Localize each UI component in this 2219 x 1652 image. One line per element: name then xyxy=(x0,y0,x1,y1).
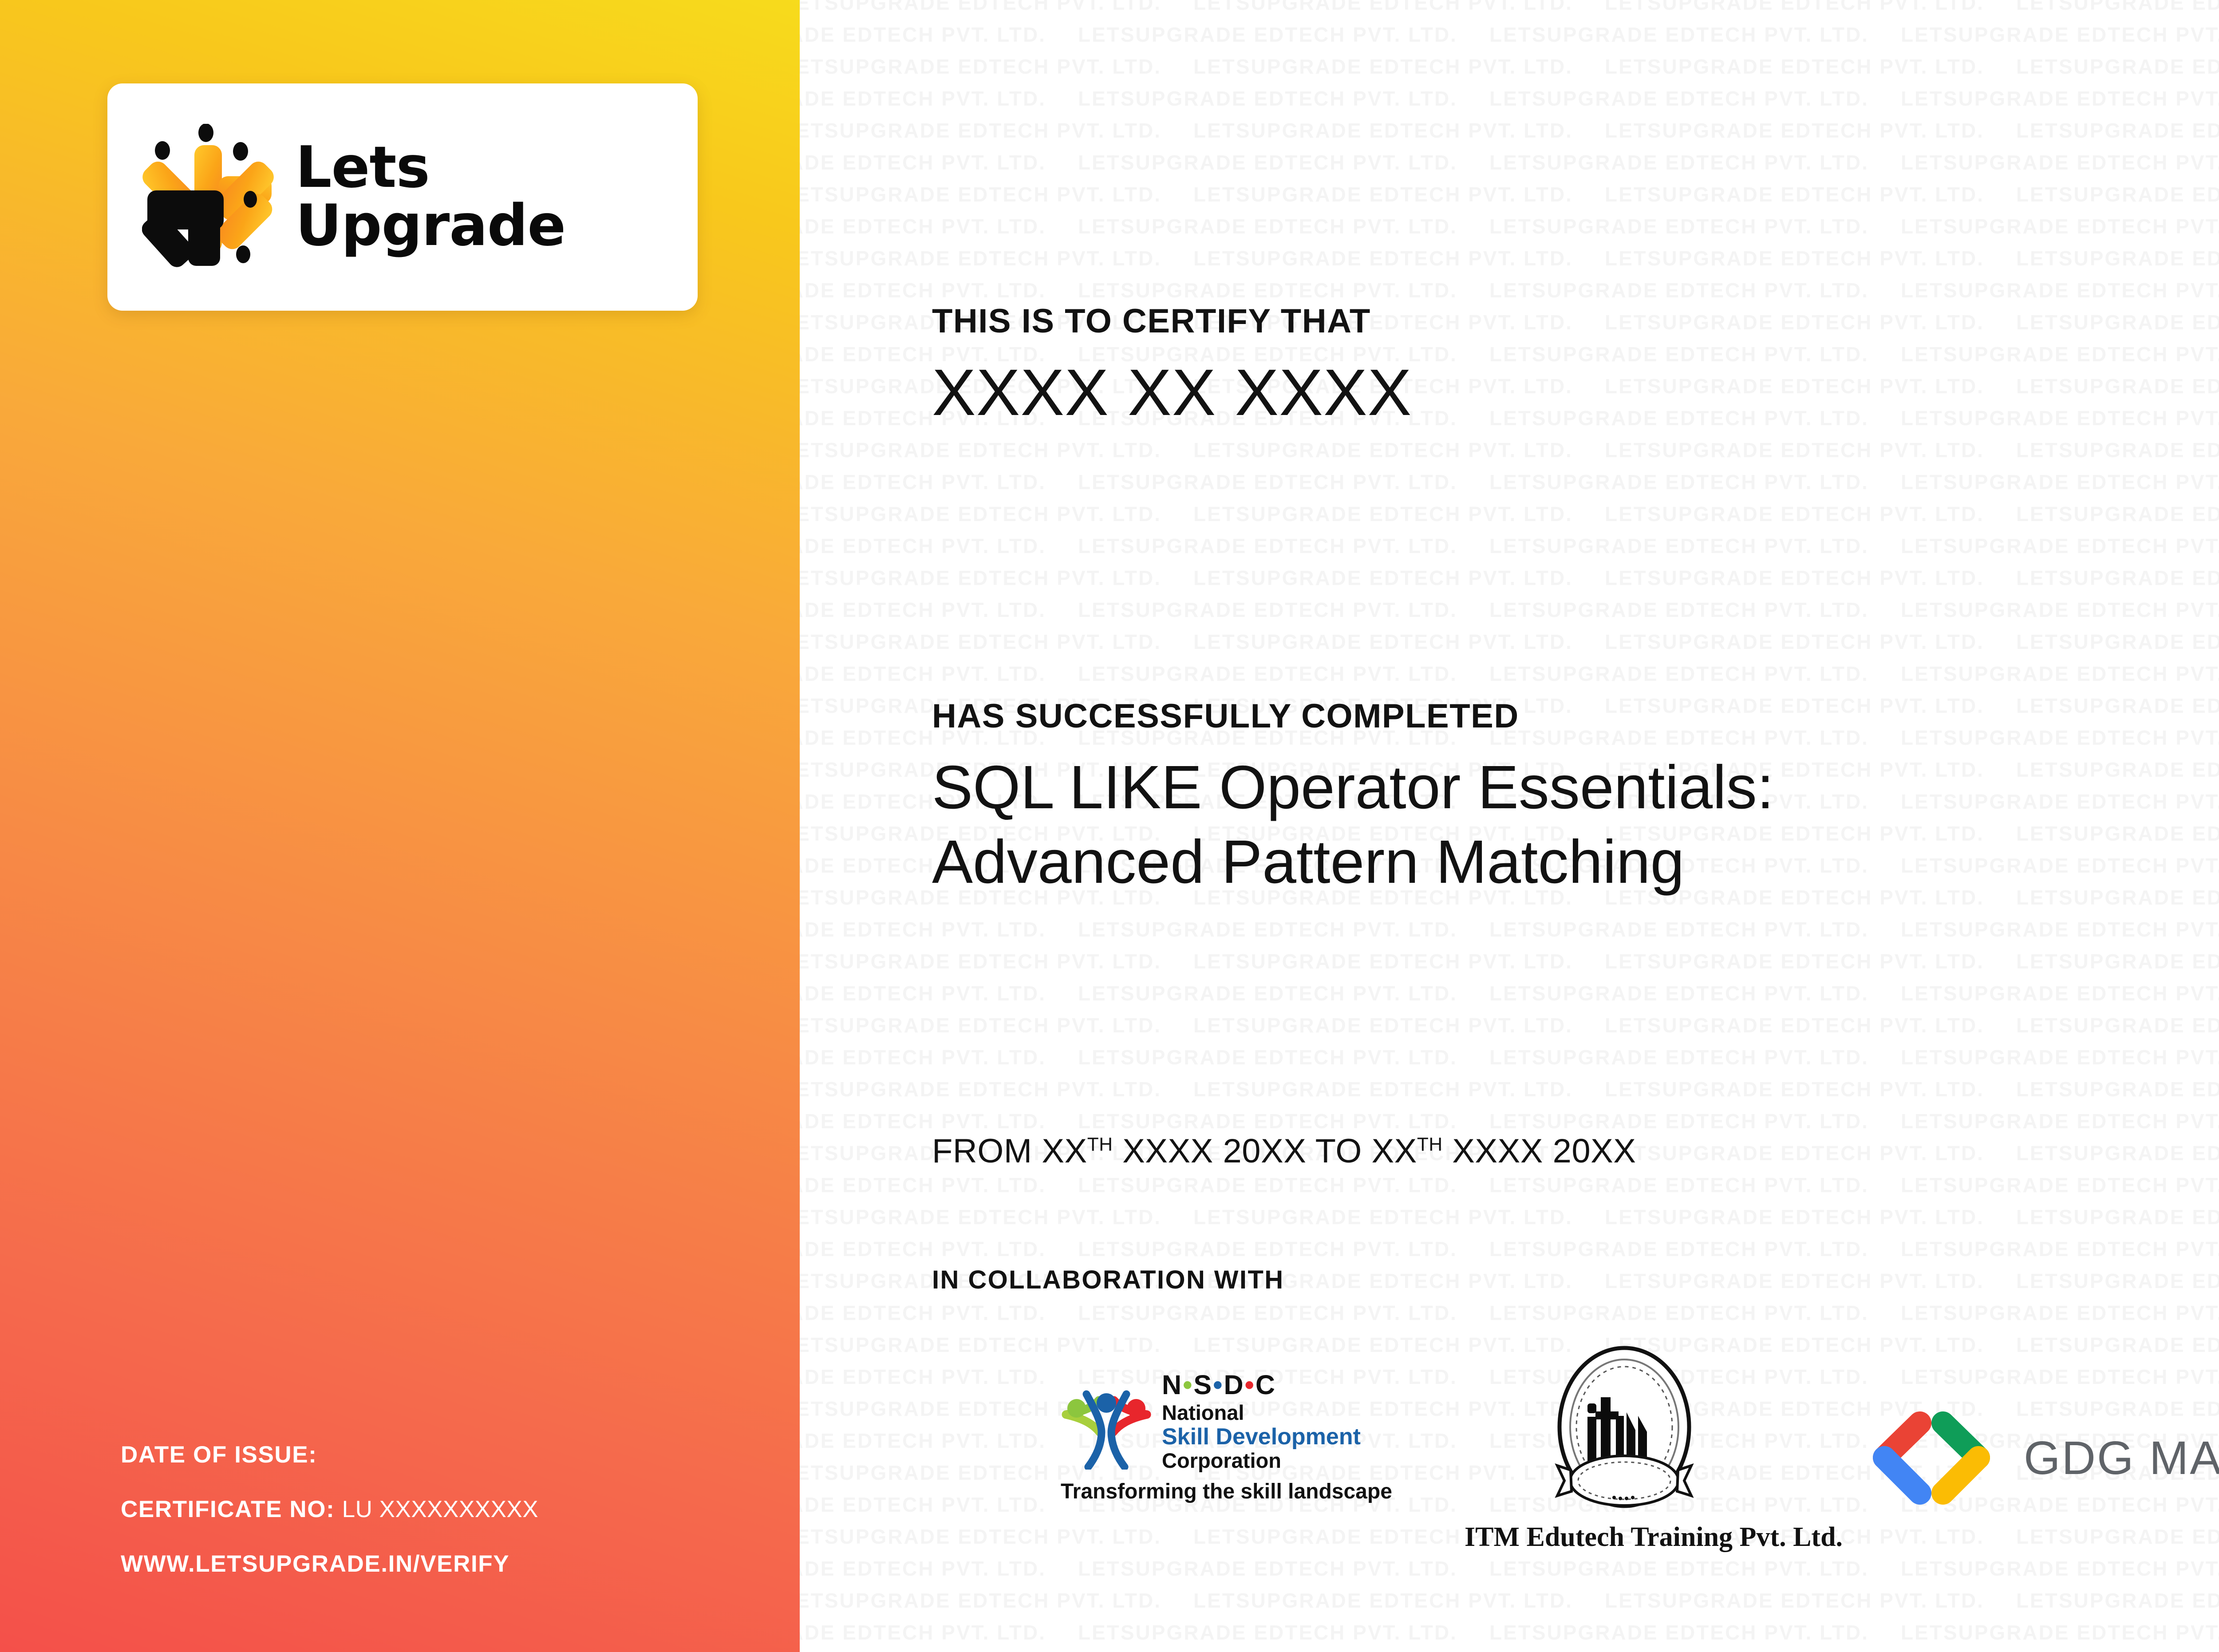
certificate-no-label: CERTIFICATE NO: xyxy=(121,1496,335,1522)
brand-wordmark: Lets Upgrade xyxy=(296,139,565,255)
partner-gdg: GDG MAD xyxy=(1864,1411,2219,1505)
certificate-content: THIS IS TO CERTIFY THAT XXXX XX XXXX HAS… xyxy=(932,0,2219,1652)
brand-panel: Lets Upgrade DATE OF ISSUE: CERTIFICATE … xyxy=(0,0,800,1652)
nsdc-letter-c: C xyxy=(1256,1370,1276,1400)
certificate-canvas: Lets Upgrade DATE OF ISSUE: CERTIFICATE … xyxy=(0,0,2219,1652)
date-from-month: XXXX xyxy=(1122,1132,1213,1170)
verify-url[interactable]: WWW.LETSUPGRADE.IN/VERIFY xyxy=(121,1550,751,1577)
partner-itm: ITM Edutech Training Pvt. Ltd. xyxy=(1465,1345,1784,1553)
date-to-year: 20XX xyxy=(1553,1132,1636,1170)
course-title: SQL LIKE Operator Essentials: Advanced P… xyxy=(932,750,2175,900)
partner-logos-row: N•S•D•C National Skill Development Corpo… xyxy=(932,1358,2219,1607)
letsupgrade-starburst-icon xyxy=(142,124,275,270)
nsdc-letter-s: S xyxy=(1193,1370,1213,1400)
nsdc-letter-d: D xyxy=(1224,1370,1244,1400)
date-range: FROM XXTH XXXX 20XX TO XXTH XXXX 20XX xyxy=(932,1132,1636,1170)
nsdc-line3: Corporation xyxy=(1162,1449,1361,1472)
nsdc-abbreviation: N•S•D•C xyxy=(1162,1371,1361,1399)
partner-nsdc: N•S•D•C National Skill Development Corpo… xyxy=(1061,1371,1407,1504)
certificate-no-value: LU XXXXXXXXXX xyxy=(342,1496,538,1522)
nsdc-letter-n: N xyxy=(1162,1370,1183,1400)
nsdc-line2: Skill Development xyxy=(1162,1424,1361,1449)
gdg-label: GDG MAD xyxy=(2024,1431,2219,1485)
certificate-body: LETSUPGRADE EDTECH PVT. LTD.LETSUPGRADE … xyxy=(800,0,2219,1652)
certificate-no-row: CERTIFICATE NO: LU XXXXXXXXXX xyxy=(121,1496,751,1523)
date-of-issue-row: DATE OF ISSUE: xyxy=(121,1441,751,1468)
date-from-word: FROM xyxy=(932,1132,1032,1170)
collaboration-label: IN COLLABORATION WITH xyxy=(932,1265,1284,1295)
itm-caption: ITM Edutech Training Pvt. Ltd. xyxy=(1465,1522,1784,1553)
recipient-name: XXXX XX XXXX xyxy=(932,355,1412,431)
completed-label: HAS SUCCESSFULLY COMPLETED xyxy=(932,697,1519,735)
brand-wordmark-line2: Upgrade xyxy=(296,197,565,255)
date-to-day-suffix: TH xyxy=(1417,1134,1443,1155)
date-from-day: XX xyxy=(1042,1132,1087,1170)
gdg-chevron-icon xyxy=(1864,1411,1997,1505)
date-from-day-suffix: TH xyxy=(1087,1134,1113,1155)
date-to-month: XXXX xyxy=(1452,1132,1543,1170)
date-to-word: TO xyxy=(1315,1132,1362,1170)
panel-footer: DATE OF ISSUE: CERTIFICATE NO: LU XXXXXX… xyxy=(121,1441,751,1577)
date-from-year: 20XX xyxy=(1223,1132,1306,1170)
date-to-day: XX xyxy=(1371,1132,1417,1170)
nsdc-tagline: Transforming the skill landscape xyxy=(1061,1479,1407,1504)
course-title-line1: SQL LIKE Operator Essentials: xyxy=(932,750,2175,825)
itm-seal-icon xyxy=(1551,1345,1698,1518)
course-title-line2: Advanced Pattern Matching xyxy=(932,825,2175,899)
date-of-issue-label: DATE OF ISSUE: xyxy=(121,1442,317,1468)
nsdc-people-icon xyxy=(1061,1374,1152,1470)
certify-label: THIS IS TO CERTIFY THAT xyxy=(932,302,1371,340)
nsdc-line1: National xyxy=(1162,1401,1361,1424)
brand-wordmark-line1: Lets xyxy=(296,139,565,197)
brand-logo-card: Lets Upgrade xyxy=(107,83,698,311)
